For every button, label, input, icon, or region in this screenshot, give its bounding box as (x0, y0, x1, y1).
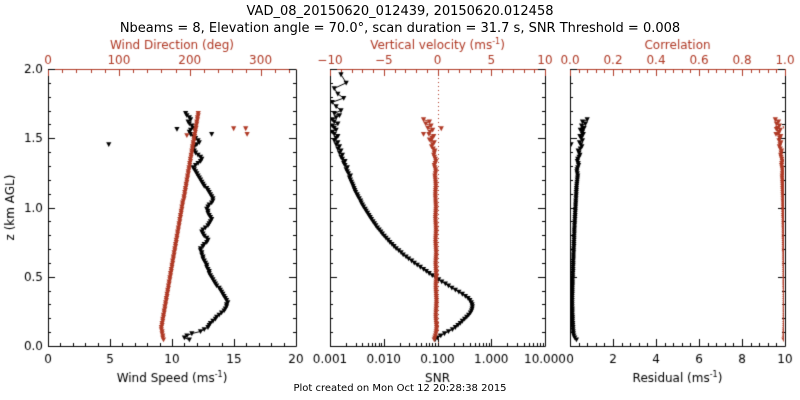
figure-title: VAD_08_20150620_012439, 20150620.012458 (0, 4, 800, 19)
vad-profile-canvas (0, 0, 800, 400)
vad-profile-figure: VAD_08_20150620_012439, 20150620.012458 … (0, 0, 800, 400)
figure-subtitle: Nbeams = 8, Elevation angle = 70.0°, sca… (0, 21, 800, 36)
plot-credit: Plot created on Mon Oct 12 20:28:38 2015 (0, 383, 800, 394)
